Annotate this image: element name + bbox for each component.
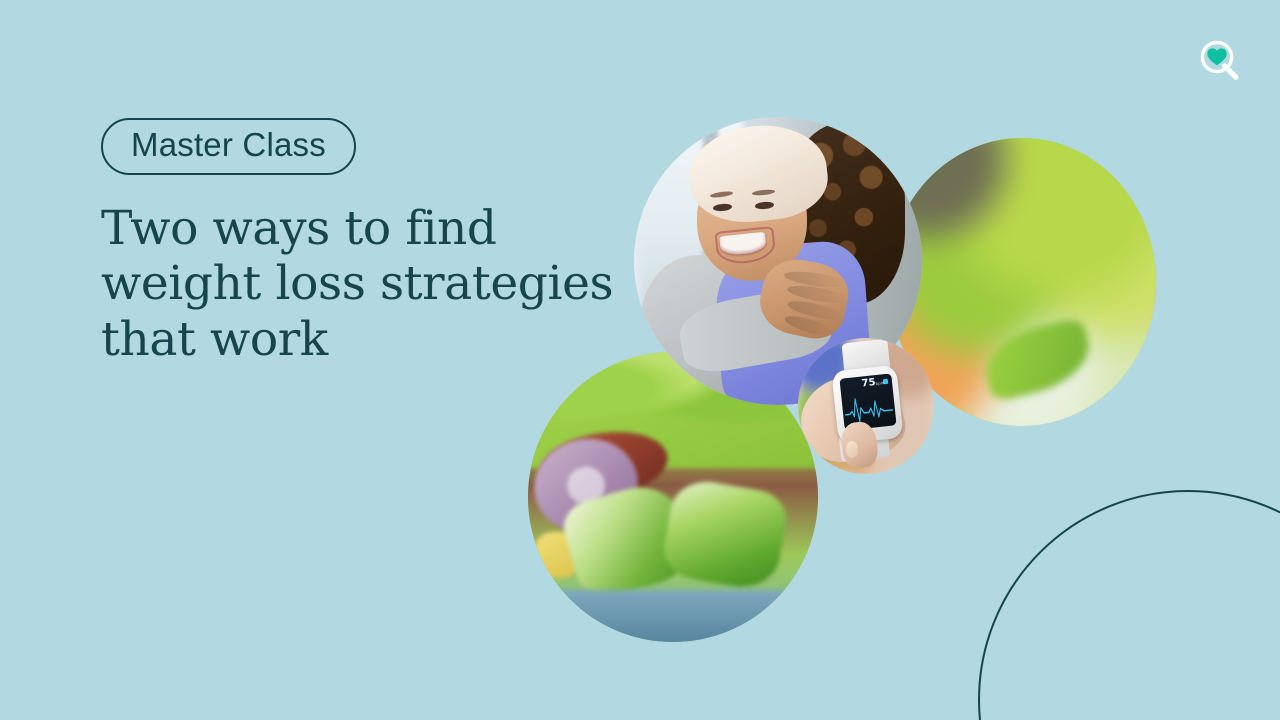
salad-bowl-shape — [528, 590, 818, 642]
hug-window-shape — [640, 117, 744, 307]
salad-photo-body — [528, 352, 818, 642]
hug-eyebrow-left — [710, 191, 733, 199]
hug-photo — [634, 117, 922, 405]
hug-headwrap-shape — [684, 119, 831, 228]
smartwatch-thumb-shape — [838, 420, 879, 471]
hug-eyebrow-right — [752, 188, 775, 195]
salad-corn-shape — [534, 532, 580, 578]
page-title: Two ways to find weight loss strategies … — [101, 201, 641, 367]
hug-finger-2 — [786, 283, 851, 306]
smartwatch-photo: 75bpm — [798, 338, 934, 474]
hug-hand-shape — [754, 253, 854, 344]
hug-purple-shirt-shape — [712, 239, 873, 405]
hug-lips-shape — [714, 226, 776, 266]
hug-face-shape — [697, 166, 806, 281]
hug-eye-left — [713, 203, 732, 212]
hug-finger-4 — [783, 312, 834, 338]
greens-leaf-shape — [978, 316, 1097, 403]
smartwatch-screen: 75bpm — [839, 374, 896, 431]
salad-photo — [528, 352, 818, 642]
smartwatch-ecg-waveform — [843, 392, 893, 424]
greens-photo-body — [888, 138, 1156, 426]
master-class-title-slide: 75bpm Master Class Two ways to find weig… — [0, 0, 1280, 720]
hug-window-frame-shape — [703, 117, 717, 284]
title-text-block: Master Class Two ways to find weight los… — [101, 118, 641, 367]
salad-tomato-shape — [536, 425, 671, 506]
hug-grey-shirt-shape — [640, 255, 770, 405]
smartwatch-heart-rate-readout: 75bpm — [861, 377, 885, 389]
smartwatch-strap-top — [841, 338, 890, 375]
hug-arm-shape — [675, 283, 834, 377]
smartwatch-heart-rate-value: 75 — [861, 377, 876, 389]
smartwatch-heart-rate-unit: bpm — [875, 380, 884, 386]
salad-onion-shape — [528, 428, 648, 543]
hug-eye-right — [755, 201, 774, 210]
hug-curly-hair-shape — [784, 123, 905, 304]
salad-lettuce-shape — [528, 352, 818, 468]
hug-finger-1 — [783, 268, 848, 289]
magnifier-heart-logo[interactable] — [1198, 38, 1244, 84]
smartwatch-case — [831, 365, 904, 445]
salad-cucumber-shape-a — [557, 477, 696, 604]
salad-cucumber-shape-b — [660, 476, 791, 593]
hug-finger-3 — [786, 298, 845, 323]
corner-arc-outline — [978, 490, 1280, 720]
smartwatch-strap-bottom — [839, 431, 891, 463]
master-class-badge: Master Class — [101, 118, 356, 175]
heart-icon — [1207, 48, 1226, 65]
hug-photo-body — [634, 117, 922, 405]
hug-smile-shape — [719, 231, 767, 256]
smartwatch-forearm-shape — [798, 364, 911, 473]
smartwatch-status-dot — [882, 379, 887, 384]
smartwatch-photo-body — [798, 338, 934, 474]
greens-photo — [888, 138, 1156, 426]
smartwatch-thumbnail-shape — [846, 441, 858, 457]
